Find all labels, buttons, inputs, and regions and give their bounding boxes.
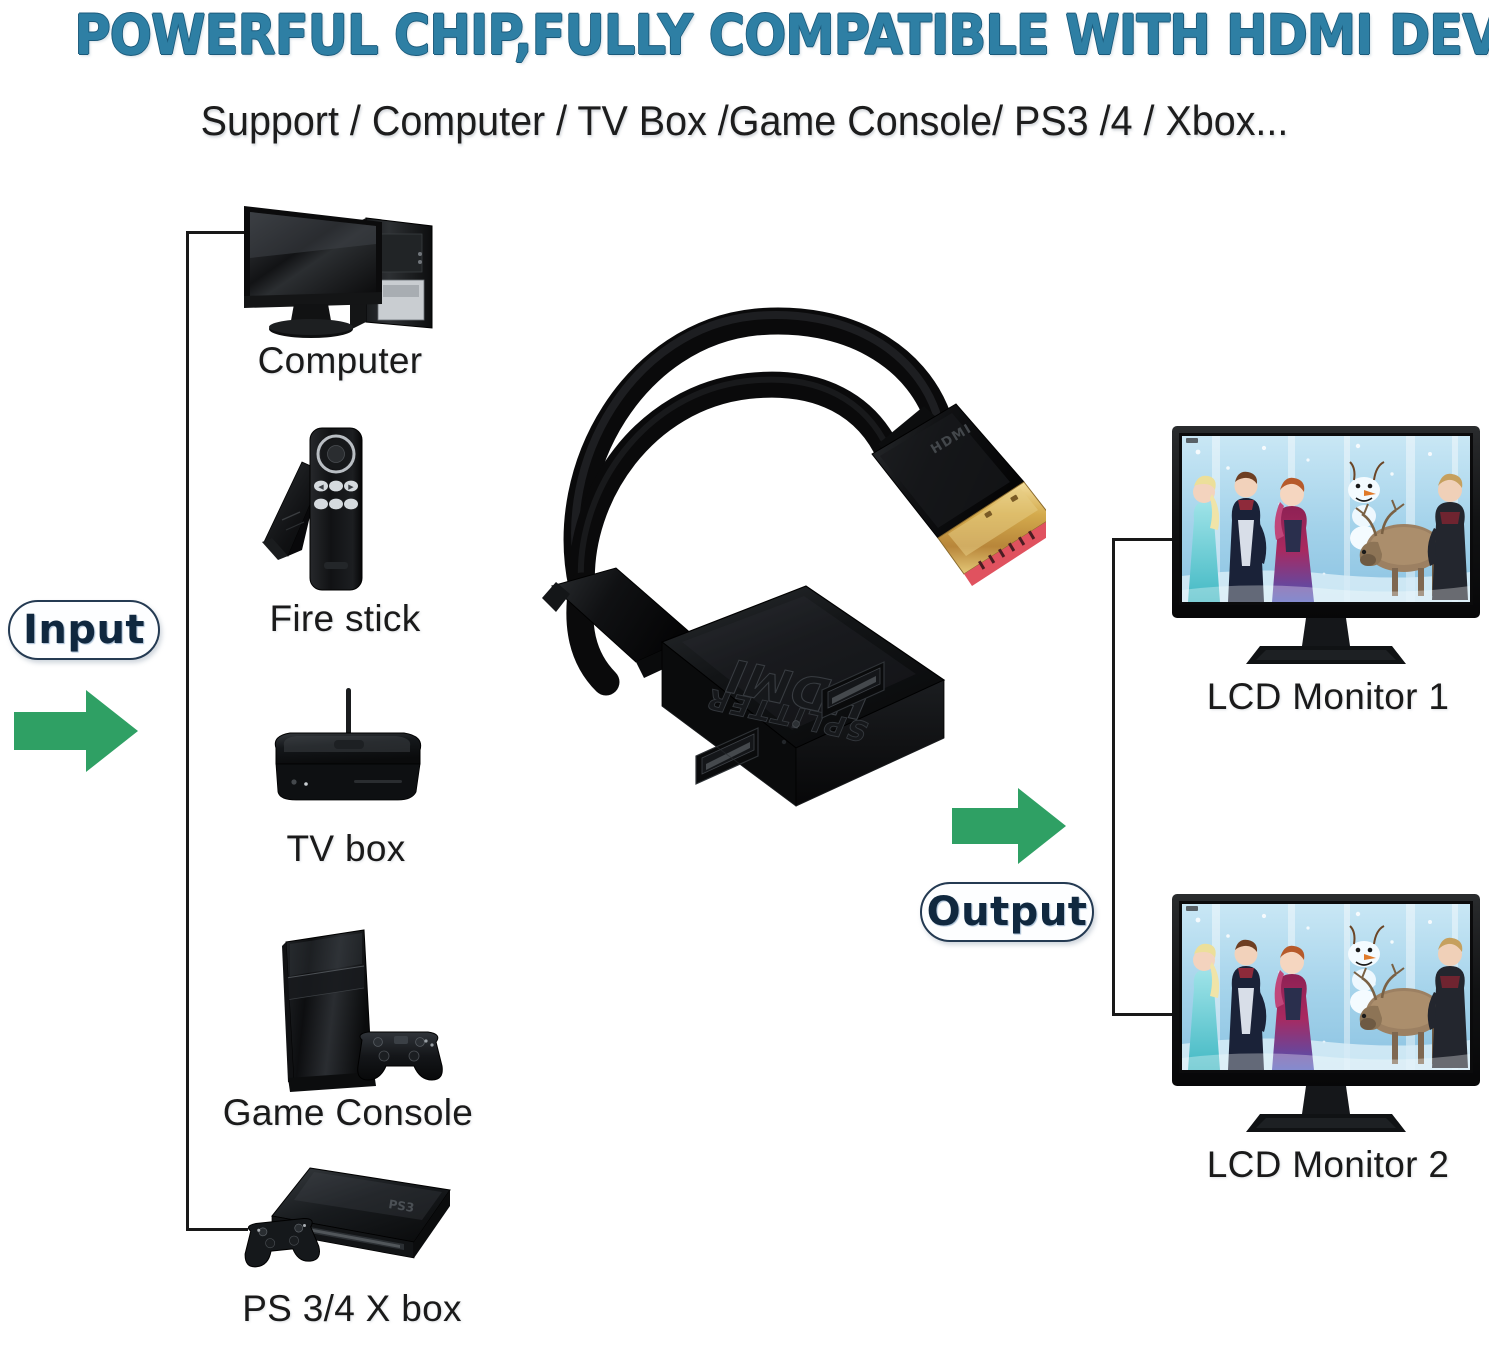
- svg-text:▶: ▶: [348, 483, 354, 491]
- page-title: POWERFUL CHIP,FULLY COMPATIBLE WITH HDMI…: [74, 4, 1414, 66]
- bracket-vertical-line: [186, 231, 189, 1231]
- output-label-monitor-2: LCD Monitor 2: [1158, 1144, 1489, 1186]
- output-arrow-icon: [952, 786, 1068, 871]
- splitter-led-indicator: [793, 721, 800, 728]
- lcd-monitor-icon: [1168, 424, 1488, 674]
- page-subtitle: Support / Computer / TV Box /Game Consol…: [45, 96, 1445, 146]
- svg-text:◀: ◀: [318, 483, 324, 491]
- desktop-computer-icon: [232, 192, 448, 338]
- input-label-game-console: Game Console: [178, 1092, 518, 1134]
- input-pill: Input: [8, 600, 160, 660]
- bracket-tick-top: [1112, 538, 1172, 541]
- input-label-fire-stick: Fire stick: [195, 598, 495, 640]
- input-arrow-icon: [14, 688, 140, 779]
- ps4-console-icon: [268, 926, 464, 1098]
- input-label-tv-box: TV box: [196, 828, 496, 870]
- bracket-tick-bottom: [1112, 1013, 1172, 1016]
- fire-stick-remote-icon: ◀ ▶: [258, 424, 422, 594]
- tv-box-icon: [250, 688, 446, 828]
- output-bracket: [1112, 538, 1172, 1016]
- output-pill-label: Output: [927, 889, 1088, 935]
- ps3-slim-console-icon: PS3: [236, 1162, 476, 1302]
- input-pill-label: Input: [23, 607, 145, 653]
- infographic-canvas: POWERFUL CHIP,FULLY COMPATIBLE WITH HDMI…: [0, 0, 1489, 1356]
- bracket-vertical-line: [1112, 538, 1115, 1016]
- output-pill: Output: [920, 882, 1094, 942]
- lcd-monitor-icon: [1168, 892, 1488, 1142]
- input-label-computer: Computer: [190, 340, 490, 382]
- input-label-ps3-xbox: PS 3/4 X box: [182, 1288, 522, 1330]
- output-label-monitor-1: LCD Monitor 1: [1158, 676, 1489, 718]
